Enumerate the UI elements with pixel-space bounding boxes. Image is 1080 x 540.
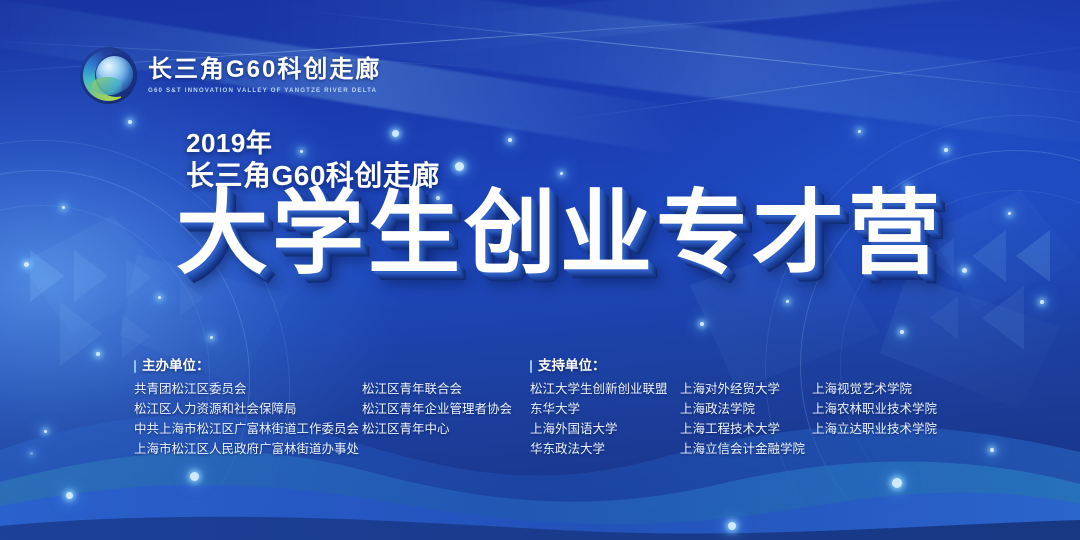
glow-particle <box>892 478 902 488</box>
list-item: 上海立达职业技术学院 <box>812 419 942 439</box>
glow-particle <box>44 430 47 433</box>
glow-particle <box>96 352 100 356</box>
glow-particle <box>728 522 736 530</box>
organizers-column-1: 共青团松江区委员会 松江区人力资源和社会保障局 中共上海市松江区广富林街道工作委… <box>134 379 362 459</box>
glow-particle <box>944 148 948 152</box>
list-item: 松江区人力资源和社会保障局 <box>134 399 362 419</box>
list-item: 松江大学生创新创业联盟 <box>530 379 680 399</box>
glow-particle <box>190 472 199 481</box>
list-item: 上海农林职业技术学院 <box>812 399 942 419</box>
supporters-heading: 支持单位： <box>530 356 942 376</box>
glow-particle <box>786 300 789 303</box>
brand-name-en: G60 S&T INNOVATION VALLEY OF YANGTZE RIV… <box>148 87 381 94</box>
glow-particle <box>24 262 29 267</box>
list-item: 上海视觉艺术学院 <box>812 379 942 399</box>
ring-decoration <box>765 115 1080 540</box>
glow-particle <box>858 130 861 133</box>
light-streak <box>418 0 1080 56</box>
g60-swirl-icon <box>80 47 137 104</box>
glow-particle <box>1040 300 1044 304</box>
glow-particle <box>700 322 704 326</box>
organizers-heading: 主办单位： <box>134 356 512 376</box>
supporters-column-1: 松江大学生创新创业联盟 东华大学 上海外国语大学 华东政法大学 <box>530 379 680 459</box>
list-item: 松江区青年企业管理者协会 <box>362 399 512 419</box>
list-item: 上海对外经贸大学 <box>680 379 812 399</box>
brand-logo-text: 长三角G60科创走廊 G60 S&T INNOVATION VALLEY OF … <box>148 57 381 93</box>
list-item: 共青团松江区委员会 <box>134 379 362 399</box>
supporters-column-3: 上海视觉艺术学院 上海农林职业技术学院 上海立达职业技术学院 <box>812 379 942 459</box>
glow-particle <box>900 330 904 334</box>
supporters-heading-label: 支持单位： <box>538 356 606 376</box>
supporters-column-2: 上海对外经贸大学 上海政法学院 上海工程技术大学 上海立信会计金融学院 <box>680 379 812 459</box>
supporters-block: 支持单位： 松江大学生创新创业联盟 东华大学 上海外国语大学 华东政法大学 上海… <box>530 356 942 459</box>
list-item: 上海工程技术大学 <box>680 419 812 439</box>
list-item: 中共上海市松江区广富林街道工作委员会 <box>134 419 362 439</box>
list-item: 华东政法大学 <box>530 439 680 459</box>
organizers-column-2: 松江区青年联合会 松江区青年企业管理者协会 松江区青年中心 <box>362 379 512 459</box>
accent-bar-icon <box>134 360 136 373</box>
glow-particle <box>962 268 967 273</box>
brand-logo: 长三角G60科创走廊 G60 S&T INNOVATION VALLEY OF … <box>80 47 381 104</box>
polygon-facet <box>20 215 170 335</box>
list-item: 松江区青年中心 <box>362 419 512 439</box>
event-poster: 长三角G60科创走廊 G60 S&T INNOVATION VALLEY OF … <box>0 0 1080 540</box>
list-item: 上海外国语大学 <box>530 419 680 439</box>
glow-particle <box>66 492 73 499</box>
list-item: 上海政法学院 <box>680 399 812 419</box>
glow-particle <box>210 336 213 339</box>
arc-hairline <box>300 10 1080 97</box>
polygon-facet <box>930 190 1080 310</box>
glow-particle <box>455 162 464 171</box>
list-item: 上海市松江区人民政府广富林街道办事处 <box>134 439 362 459</box>
list-item: 上海立信会计金融学院 <box>680 439 812 459</box>
list-item: 东华大学 <box>530 399 680 419</box>
glow-particle <box>158 296 161 299</box>
event-headline: 大学生创业专才营 <box>176 188 944 280</box>
arc-hairline <box>560 42 1080 121</box>
glow-particle <box>30 452 33 455</box>
glow-particle <box>1008 212 1011 215</box>
glow-particle <box>62 206 65 209</box>
glow-particle <box>508 138 512 142</box>
organizers-block: 主办单位： 共青团松江区委员会 松江区人力资源和社会保障局 中共上海市松江区广富… <box>134 356 512 459</box>
glow-particle <box>128 120 132 124</box>
glow-particle <box>990 448 994 452</box>
brand-name-cn: 长三角G60科创走廊 <box>148 57 381 82</box>
organizers-heading-label: 主办单位： <box>142 356 210 376</box>
event-year: 2019年 <box>186 128 440 159</box>
list-item: 松江区青年联合会 <box>362 379 512 399</box>
glow-particle <box>560 172 563 175</box>
accent-bar-icon <box>530 360 532 373</box>
